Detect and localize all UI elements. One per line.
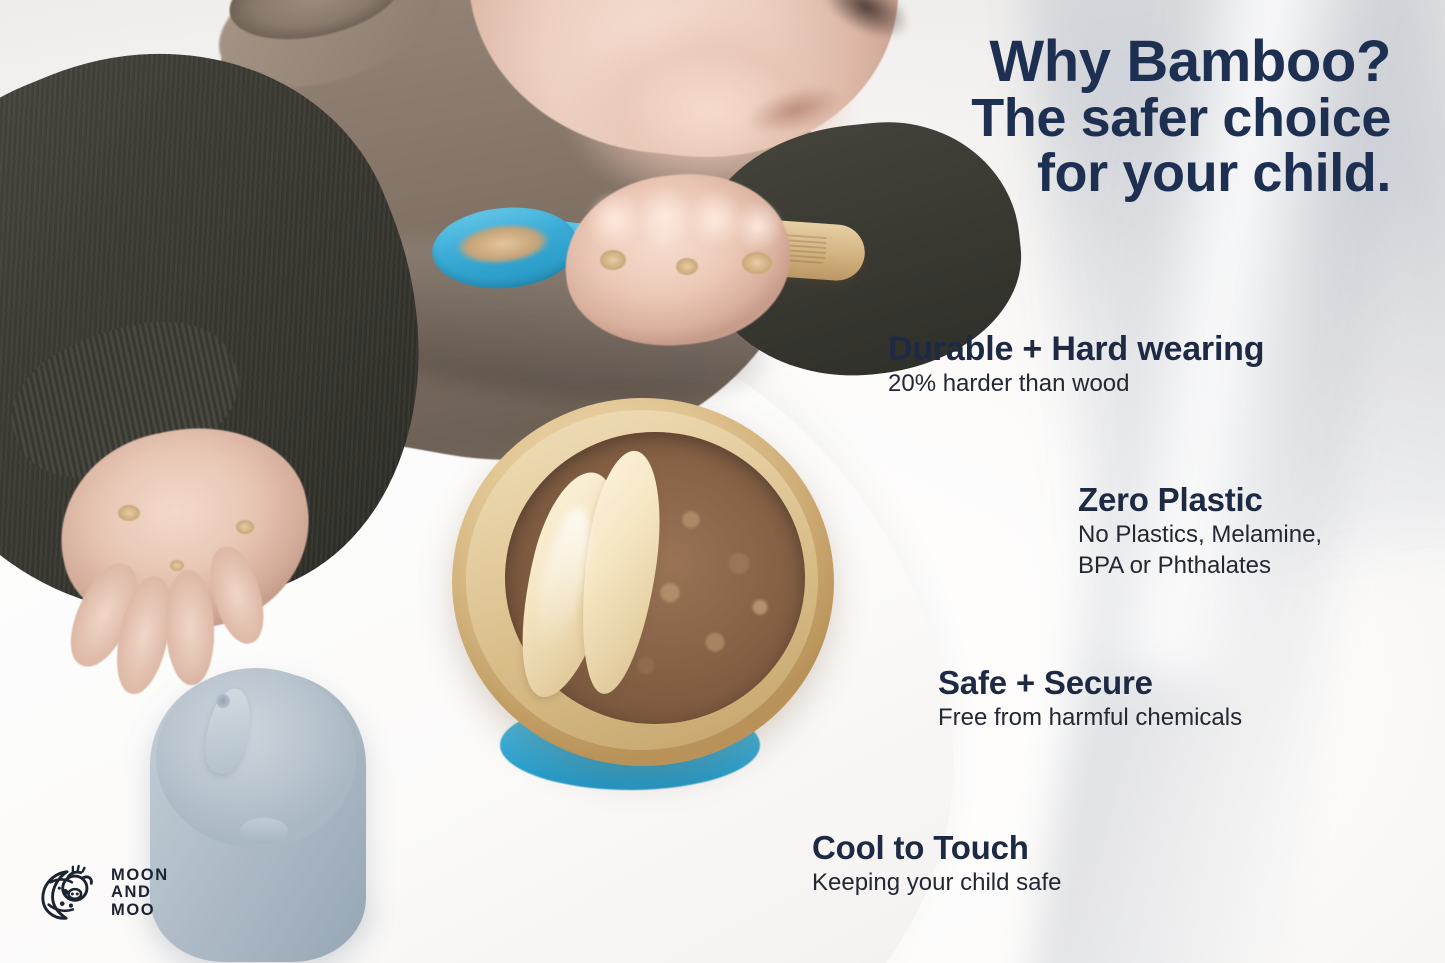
food-crumb	[236, 520, 254, 534]
brand-line-1: MOON	[111, 867, 169, 884]
food-crumb	[600, 250, 626, 270]
feature-zero-plastic: Zero Plastic No Plastics, Melamine, BPA …	[1078, 482, 1322, 581]
food-crumb	[742, 252, 772, 274]
feature-safe-secure-subtitle: Free from harmful chemicals	[938, 704, 1242, 733]
brand-line-2: AND	[111, 884, 169, 901]
feature-cool-to-touch-subtitle: Keeping your child safe	[812, 869, 1062, 898]
page-title: Why Bamboo? The safer choice for your ch…	[771, 32, 1391, 201]
sippy-cup-spout-hole	[216, 694, 230, 708]
feature-zero-plastic-subtitle-line-1: No Plastics, Melamine,	[1078, 521, 1322, 550]
headline-line-1: Why Bamboo?	[771, 32, 1391, 91]
brand-wordmark: MOON AND MOO	[111, 867, 169, 918]
feature-durable-title: Durable + Hard wearing	[888, 330, 1264, 368]
feature-zero-plastic-subtitle-line-2: BPA or Phthalates	[1078, 552, 1322, 581]
food-crumb	[170, 560, 184, 571]
feature-durable-subtitle: 20% harder than wood	[888, 370, 1264, 399]
moon-cow-icon	[38, 862, 100, 924]
headline-line-2: The safer choice	[771, 91, 1391, 146]
headline-line-3: for your child.	[771, 146, 1391, 201]
brand-line-3: MOO	[111, 902, 169, 919]
feature-safe-secure: Safe + Secure Free from harmful chemical…	[938, 665, 1242, 733]
feature-cool-to-touch-title: Cool to Touch	[812, 830, 1062, 867]
feature-safe-secure-title: Safe + Secure	[938, 665, 1242, 702]
sippy-cup-handle-nub	[240, 818, 288, 844]
feature-durable: Durable + Hard wearing 20% harder than w…	[888, 330, 1264, 399]
food-crumb	[676, 258, 698, 275]
baby-knuckle	[732, 200, 784, 252]
why-bamboo-infographic: MOON AND MOO Why Bamboo? The safer choic…	[0, 0, 1445, 963]
food-crumb	[118, 505, 140, 521]
brand-logo: MOON AND MOO	[38, 862, 169, 924]
feature-cool-to-touch: Cool to Touch Keeping your child safe	[812, 830, 1062, 898]
feature-zero-plastic-title: Zero Plastic	[1078, 482, 1322, 519]
